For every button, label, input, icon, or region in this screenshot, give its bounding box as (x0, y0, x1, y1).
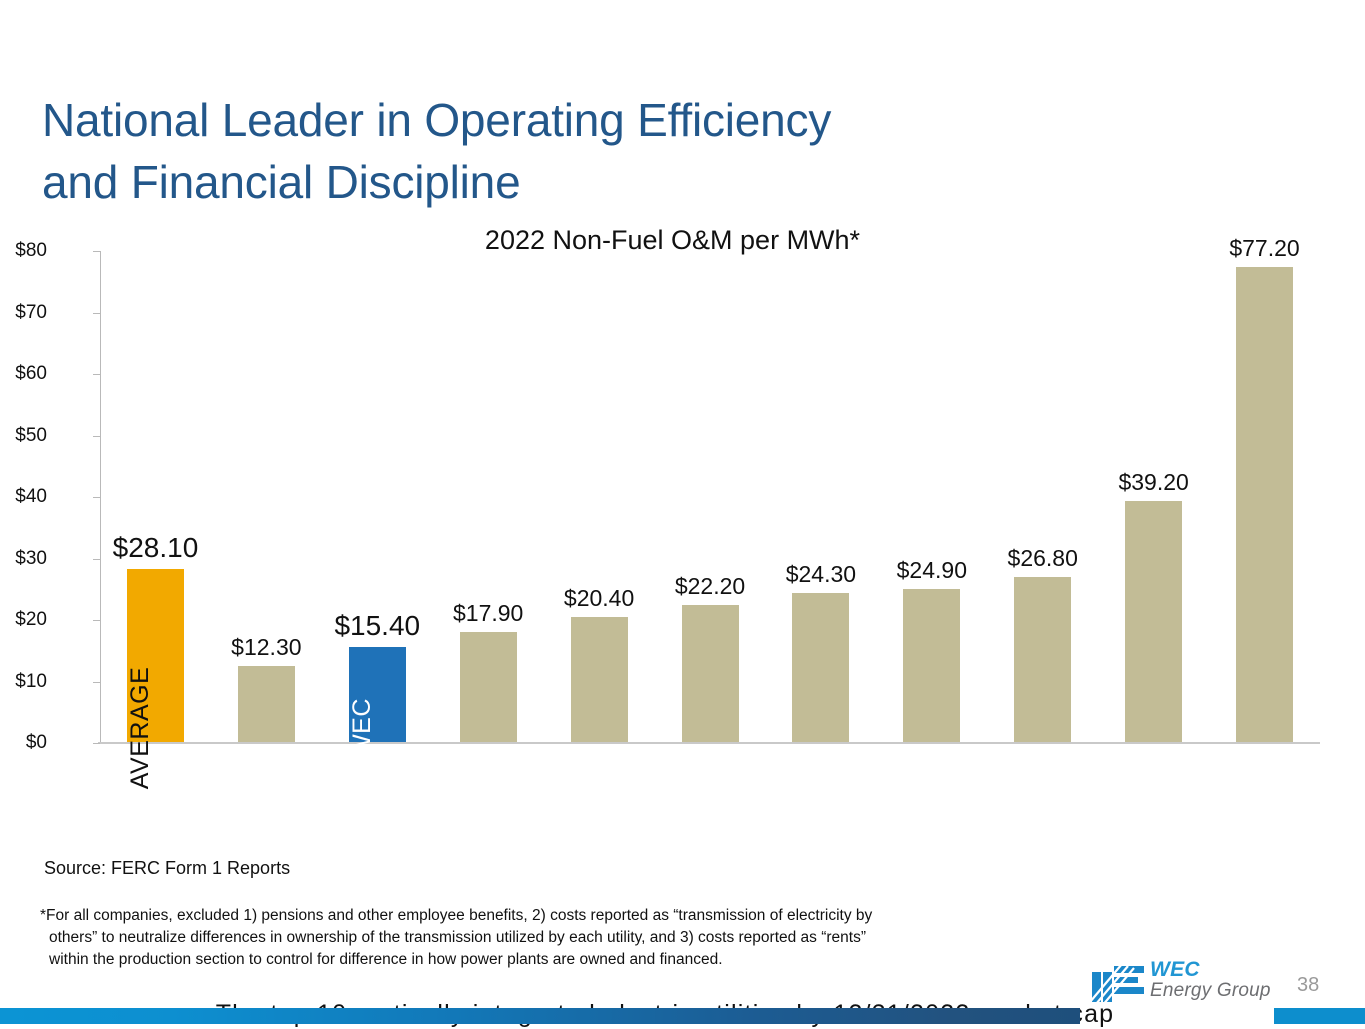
y-axis-tick-label: $80 (0, 240, 47, 262)
bar-group: $39.20 (1125, 251, 1182, 743)
logo-secondary-text: Energy Group (1150, 980, 1271, 1001)
y-axis-tick (93, 251, 100, 252)
footer-gradient-bar (0, 1008, 1080, 1024)
bar-group: AVERAGE$28.10 (127, 251, 184, 743)
page-title: National Leader in Operating Efficiency … (42, 89, 1142, 213)
bar-group: $17.90 (460, 251, 517, 743)
bar-group: $22.20 (682, 251, 739, 743)
y-axis-tick-label: $30 (0, 548, 47, 570)
source-note: Source: FERC Form 1 Reports (44, 858, 290, 879)
wec-energy-group-logo: WEC Energy Group (1092, 960, 1272, 1006)
bar-group: $77.20 (1236, 251, 1293, 743)
bar[interactable] (903, 589, 960, 742)
y-axis-tick (93, 497, 100, 498)
y-axis-tick (93, 374, 100, 375)
bar[interactable]: AVERAGE (127, 569, 184, 742)
y-axis-tick (93, 436, 100, 437)
y-axis-tick (93, 682, 100, 683)
bar[interactable] (1014, 577, 1071, 742)
wec-logo-mark-icon (1092, 962, 1144, 1002)
bar-group: WEC$15.40 (349, 251, 406, 743)
footnote: *For all companies, excluded 1) pensions… (40, 905, 1100, 971)
bar-value-label: $26.80 (1008, 545, 1078, 572)
bar-value-label: $24.30 (786, 561, 856, 588)
y-axis-tick-label: $0 (0, 732, 47, 754)
y-axis-tick-label: $10 (0, 671, 47, 693)
bar-group: $24.30 (792, 251, 849, 743)
logo-primary-text: WEC (1150, 959, 1271, 980)
bar[interactable] (682, 605, 739, 742)
bar-value-label: $22.20 (675, 573, 745, 600)
bar-group: $20.40 (571, 251, 628, 743)
bar-value-label: $17.90 (453, 600, 523, 627)
bar-value-label: $28.10 (113, 532, 199, 564)
y-axis-tick (93, 743, 100, 744)
y-axis-tick (93, 313, 100, 314)
page-title-line-2: and Financial Discipline (42, 151, 1142, 213)
footnote-line-3: within the production section to control… (40, 949, 1100, 971)
bar-value-label: $15.40 (334, 610, 420, 642)
y-axis-tick-label: $50 (0, 425, 47, 447)
footnote-line-2: others” to neutralize differences in own… (40, 927, 1100, 949)
bar-value-label: $77.20 (1229, 235, 1299, 262)
page-number: 38 (1297, 974, 1319, 997)
footnote-line-1: *For all companies, excluded 1) pensions… (40, 905, 1100, 927)
y-axis-tick-label: $60 (0, 363, 47, 385)
bar-value-label: $24.90 (897, 557, 967, 584)
bar[interactable] (571, 617, 628, 742)
chart-plot-area: $80$70$60$50$40$30$20$10$0 AVERAGE$28.10… (100, 251, 1320, 743)
bar-group: $12.30 (238, 251, 295, 743)
y-axis-tick (93, 559, 100, 560)
chart-container: 2022 Non-Fuel O&M per MWh* $80$70$60$50$… (0, 225, 1365, 765)
y-axis-tick-label: $20 (0, 609, 47, 631)
bar[interactable]: WEC (349, 647, 406, 742)
bar-group: $24.90 (903, 251, 960, 743)
page-title-line-1: National Leader in Operating Efficiency (42, 89, 1142, 151)
bar-value-label: $12.30 (231, 634, 301, 661)
bar[interactable] (460, 632, 517, 742)
logo-wordmark: WEC Energy Group (1150, 959, 1271, 1001)
bar[interactable] (238, 666, 295, 742)
bar[interactable] (1236, 267, 1293, 742)
bar-inner-label: AVERAGE (126, 667, 155, 790)
bar-inner-label: WEC (348, 698, 377, 758)
bar[interactable] (1125, 501, 1182, 742)
y-axis-tick-label: $70 (0, 302, 47, 324)
y-axis-tick (93, 620, 100, 621)
bar-value-label: $20.40 (564, 585, 634, 612)
y-axis-tick-label: $40 (0, 486, 47, 508)
bar[interactable] (792, 593, 849, 742)
bar-value-label: $39.20 (1118, 469, 1188, 496)
y-axis-line (100, 251, 101, 743)
footer-accent-bar (1274, 1008, 1365, 1024)
bar-group: $26.80 (1014, 251, 1071, 743)
